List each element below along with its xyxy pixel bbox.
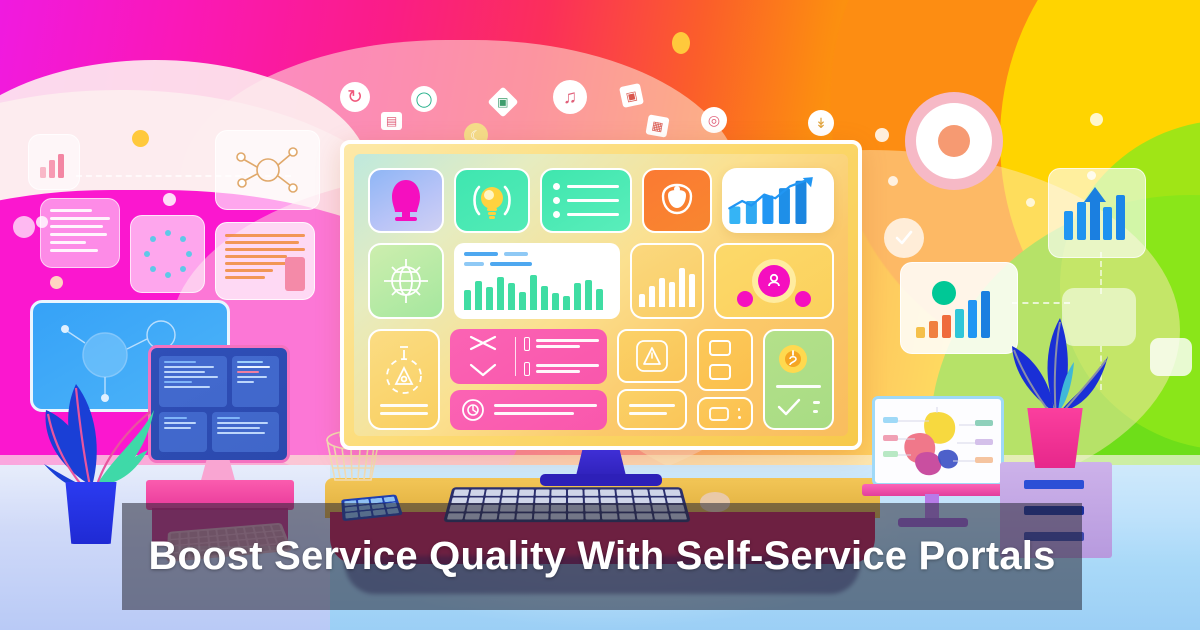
main-monitor-base [540,474,662,486]
page-title: Boost Service Quality With Self-Service … [134,535,1069,578]
image-icon: ▦ [645,114,669,137]
check-mark-icon [776,397,802,417]
tile-volume[interactable] [630,243,704,319]
lightbulb-icon [469,179,515,223]
left-plant-pot [62,482,120,544]
check-circle-icon [884,218,924,258]
refresh-icon: ↻ [340,82,370,112]
decor-dot-3 [163,193,176,206]
document-thumb [285,257,305,291]
circle-outline-icon: ◎ [701,107,727,133]
banner-image: ↻ ◯ ▤ ▣ ☾ ♫ ▣ ▦ ◎ ↡ [0,0,1200,630]
laptop-screen [872,396,1004,486]
tile-alerts[interactable] [617,329,687,383]
tile-profile[interactable] [368,168,444,233]
tile-workflow-status[interactable] [450,390,607,430]
clock-icon [460,397,486,423]
decor-dot-yellow [672,32,690,54]
floating-card-text [40,198,120,268]
dial-center [938,125,970,157]
decor-dot-6 [1090,113,1103,126]
check-icon [893,227,915,249]
tile-request-forms[interactable] [697,329,753,391]
resolved-icon [776,342,810,376]
tile-analytics-panel[interactable] [454,243,620,319]
decor-dot-9 [888,176,898,186]
music-note-icon: ♫ [553,80,587,114]
camera-icon: ▣ [619,83,644,108]
shuffle-up-icon [469,335,497,351]
floating-card-network [215,130,320,210]
bar-chart-icon [39,153,69,179]
tile-agent-status[interactable] [714,243,834,319]
floating-card-colored-chart [900,262,1018,354]
right-plant-leaves [1002,300,1122,420]
alert-icon [633,337,671,375]
growth-chart-icon [722,173,834,229]
floating-card-dot-ring [130,215,205,293]
floating-card-chart [28,134,80,190]
circle-icon: ◯ [411,86,437,112]
tile-knowledge-base[interactable] [540,168,632,233]
tile-alert-lines[interactable] [617,389,687,430]
decor-dot-orange [132,130,149,147]
gauge-icon [376,344,432,396]
decor-dot-5 [875,128,889,142]
main-monitor [340,140,862,450]
tile-form-compact[interactable] [697,397,753,430]
floating-card-growth-arrow [1048,168,1146,258]
tile-resolved[interactable] [763,329,834,430]
main-monitor-screen [354,154,848,436]
colored-bar-chart-icon [913,277,1005,339]
tile-group-workflow [450,329,607,430]
decor-dot-8 [1026,198,1035,207]
ticket-icon [657,182,697,220]
tile-tickets[interactable] [642,168,712,233]
floating-card-document [215,222,315,300]
chat-bubble-icon: ▤ [381,112,402,130]
analytics-bars [464,272,610,310]
filter-icon: ↡ [808,110,834,136]
dot-ring-icon [142,228,194,280]
dial-gauge-icon [905,92,1003,190]
left-plant-leaves [30,318,170,508]
tile-growth-chart[interactable] [722,168,834,233]
tile-workflow[interactable] [450,329,607,384]
decor-dot-4 [50,276,63,289]
tile-global-reach[interactable] [368,243,444,319]
network-nodes-icon [231,141,305,199]
bar-chart-up-arrow-icon [1061,185,1133,243]
floating-card-blank-2 [1150,338,1192,376]
user-avatar-icon [386,178,426,224]
tile-group-alerts [617,329,687,430]
volume-bars [639,265,695,307]
tile-ideas[interactable] [454,168,530,233]
globe-target-icon [381,256,431,306]
title-overlay-band: Boost Service Quality With Self-Service … [122,503,1082,610]
user-status-icon [765,272,783,290]
tile-response-gauge[interactable] [368,329,440,430]
decor-dot-2 [13,216,35,238]
chevron-down-icon [469,363,497,377]
mind-map-brain-diagram [875,399,1001,483]
tile-group-forms [697,329,753,430]
